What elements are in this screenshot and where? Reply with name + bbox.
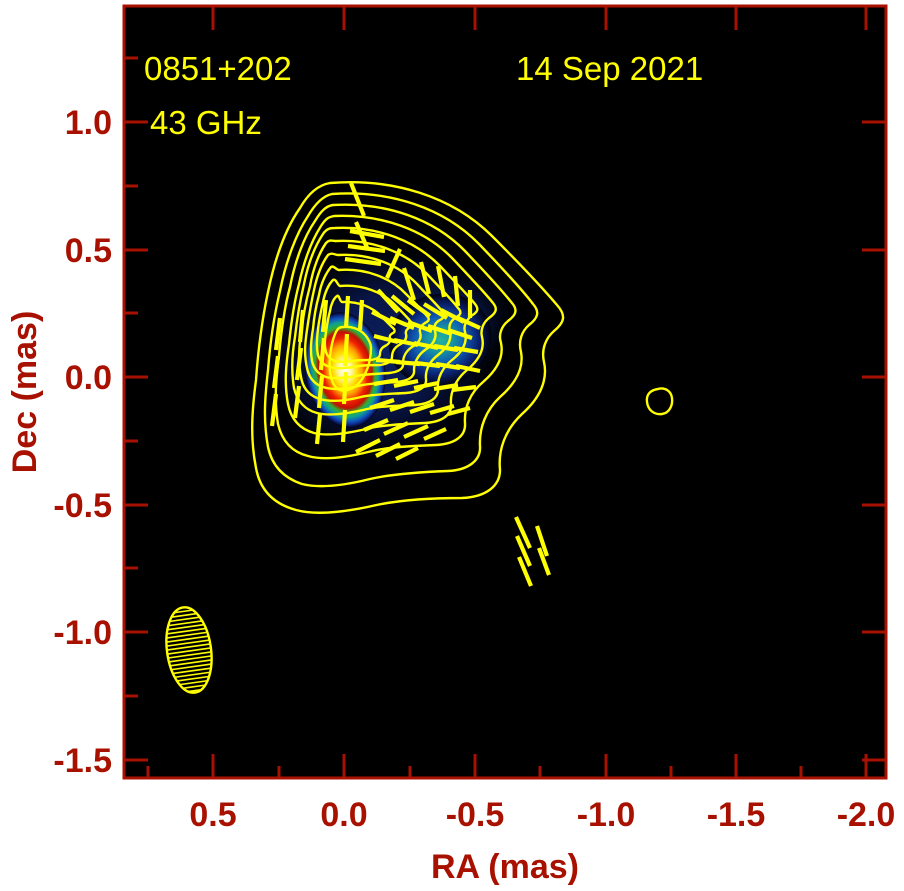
polarization-vector: [319, 376, 322, 408]
polarization-vector: [323, 300, 326, 332]
y-tick-label: 0.0: [65, 359, 112, 397]
polarization-vector: [455, 276, 458, 306]
y-tick-label: -1.5: [53, 742, 112, 780]
polarization-vector: [346, 296, 348, 328]
polarization-vector: [321, 338, 324, 370]
polarization-vector: [452, 387, 476, 390]
y-tick-label: -0.5: [53, 487, 112, 525]
polarization-vector: [360, 300, 362, 330]
y-tick-label: -1.0: [53, 614, 112, 652]
x-tick-label: -1.5: [707, 796, 766, 834]
x-axis-tick-labels: 0.5 0.0 -0.5 -1.0 -1.5 -2.0: [189, 796, 895, 834]
x-tick-label: -0.5: [446, 796, 505, 834]
y-tick-label: 1.0: [65, 104, 112, 142]
polarization-vector: [317, 414, 320, 444]
polarization-vector: [344, 372, 346, 404]
polarization-vector: [345, 334, 347, 366]
x-tick-label: 0.0: [320, 796, 367, 834]
y-axis-tick-labels: 1.0 0.5 0.0 -0.5 -1.0 -1.5: [53, 104, 112, 780]
source-name-label: 0851+202: [144, 50, 292, 87]
plot-canvas: 0851+202 14 Sep 2021 43 GHz: [0, 0, 904, 891]
y-axis-title: Dec (mas): [6, 311, 44, 474]
polarization-vector: [343, 410, 345, 442]
frequency-label: 43 GHz: [150, 104, 262, 141]
y-tick-label: 0.5: [65, 232, 112, 270]
x-tick-label: -1.0: [577, 796, 636, 834]
x-tick-label: 0.5: [189, 796, 236, 834]
x-tick-label: -2.0: [837, 796, 896, 834]
polarization-vector: [300, 310, 303, 342]
x-axis-title: RA (mas): [431, 848, 579, 886]
observation-date-label: 14 Sep 2021: [516, 50, 703, 87]
vlbi-polarization-figure: 0851+202 14 Sep 2021 43 GHz: [0, 0, 904, 891]
